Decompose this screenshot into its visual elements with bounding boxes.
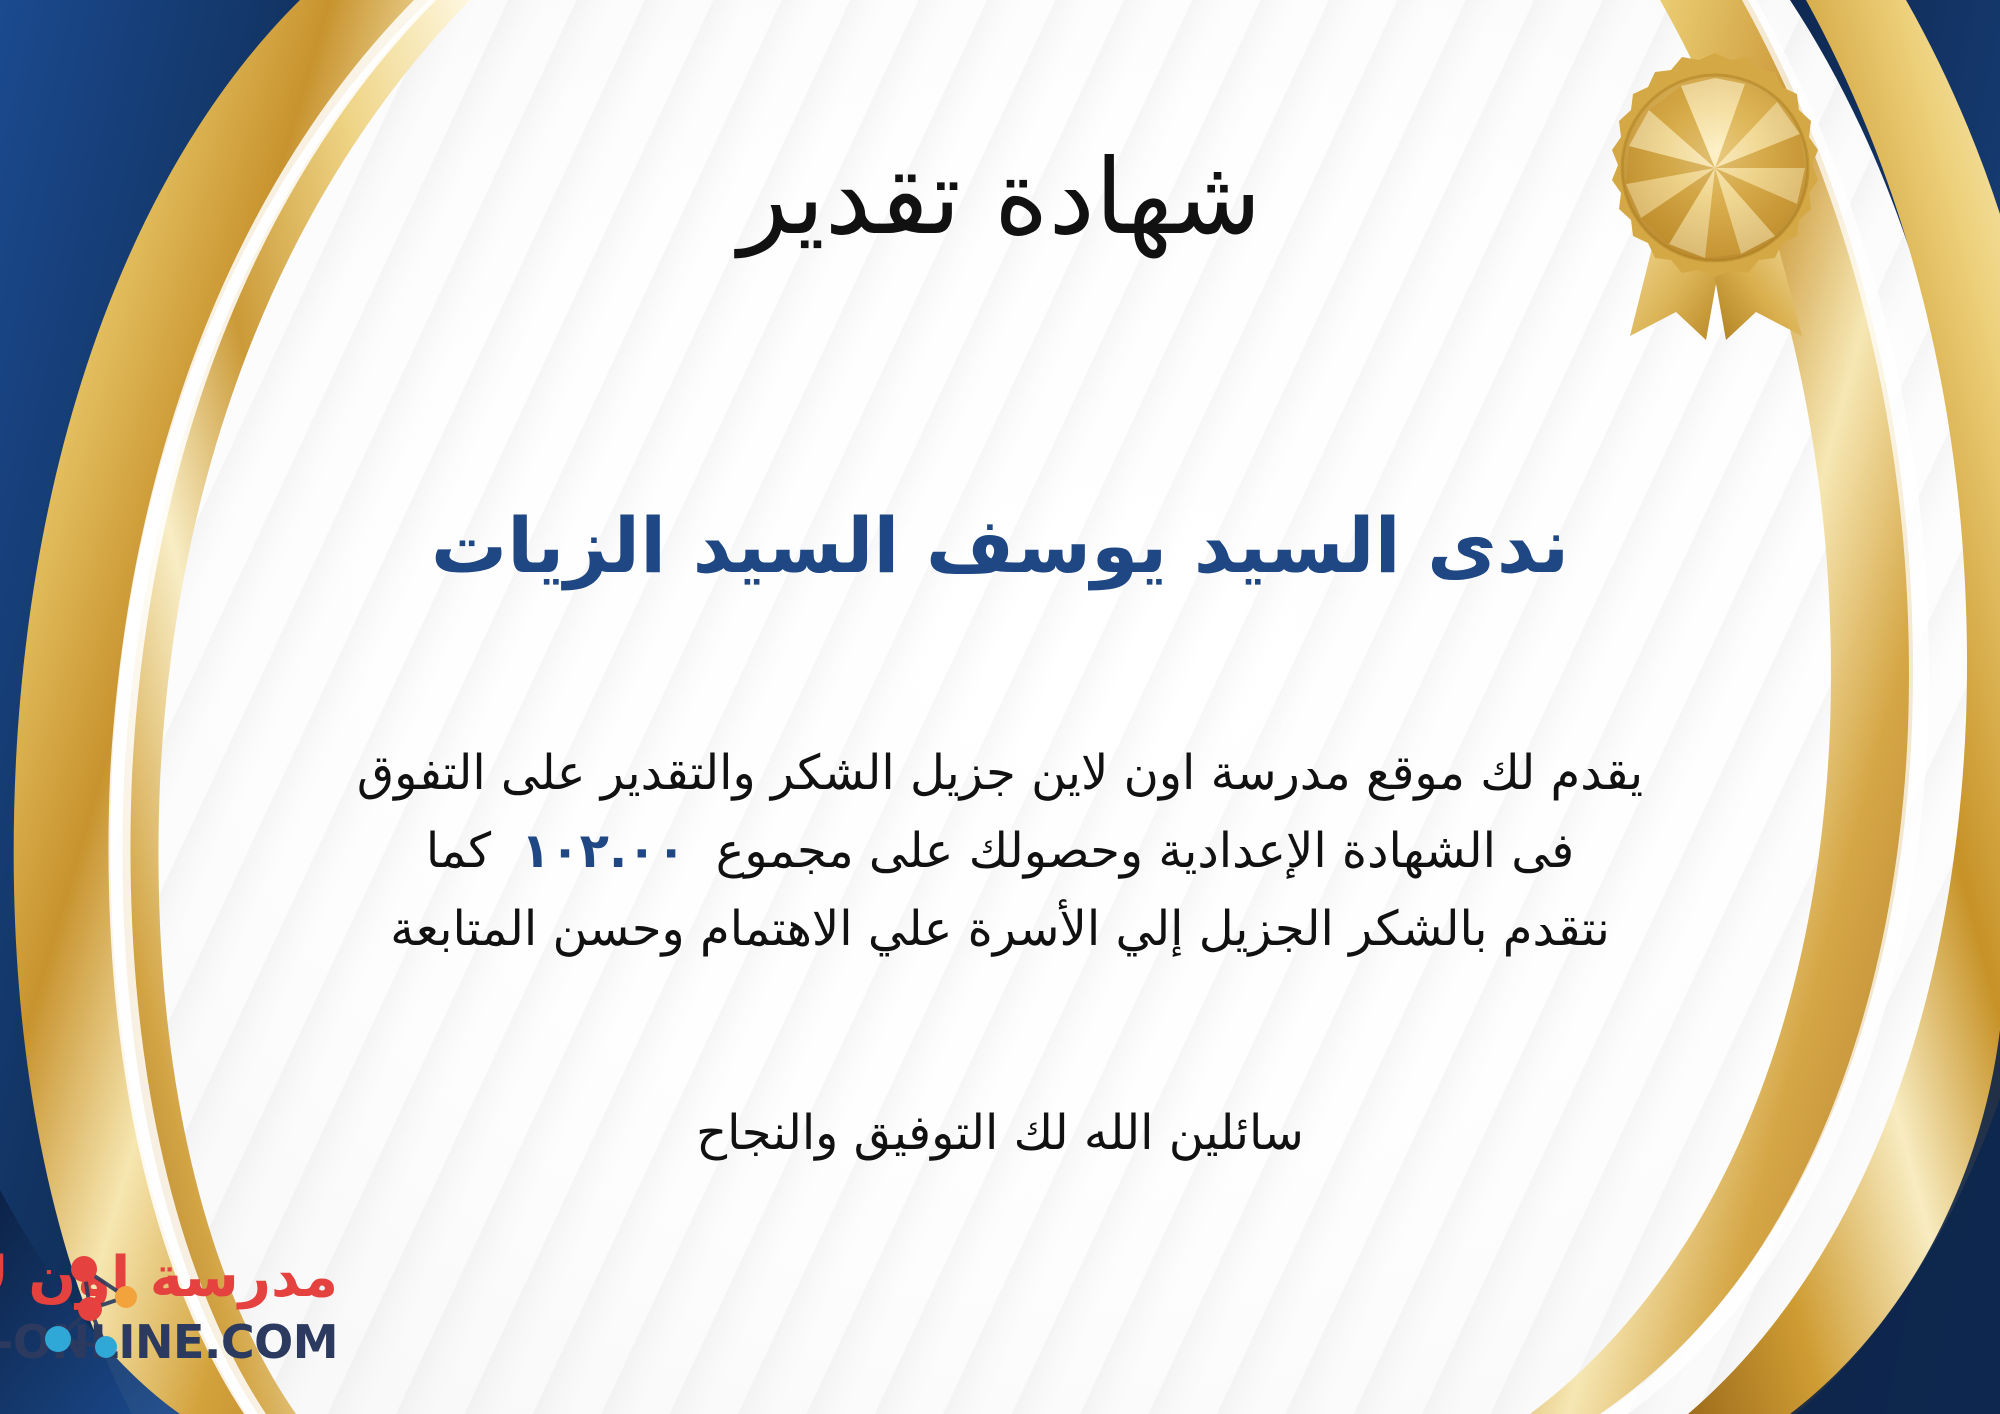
closing-line: سائلين الله لك التوفيق والنجاح	[150, 1105, 1850, 1161]
student-name: ندى السيد يوسف السيد الزيات	[150, 500, 1850, 591]
body-line-3: نتقدم بالشكر الجزيل إلي الأسرة علي الاهت…	[180, 891, 1820, 969]
body-line-2: فى الشهادة الإعدادية وحصولك على مجموع١٠٢…	[180, 813, 1820, 891]
certificate-canvas: شهادة تقدير ندى السيد يوسف السيد الزيات …	[0, 0, 2000, 1414]
certificate-content: شهادة تقدير ندى السيد يوسف السيد الزيات …	[150, 0, 1850, 1414]
body-line-2-after: كما	[426, 823, 491, 879]
body-line-1: يقدم لك موقع مدرسة اون لاين جزيل الشكر و…	[180, 735, 1820, 813]
certificate-body: يقدم لك موقع مدرسة اون لاين جزيل الشكر و…	[180, 735, 1820, 968]
grade-value: ١٠٢.٠٠	[491, 813, 716, 891]
page-title: شهادة تقدير	[150, 140, 1850, 254]
network-nodes-icon	[28, 1251, 158, 1376]
body-line-2-before: فى الشهادة الإعدادية وحصولك على مجموع	[716, 823, 1574, 879]
site-logo[interactable]: مدرسة اون لاين MADRSA-ONLINE.COM	[18, 1243, 488, 1388]
